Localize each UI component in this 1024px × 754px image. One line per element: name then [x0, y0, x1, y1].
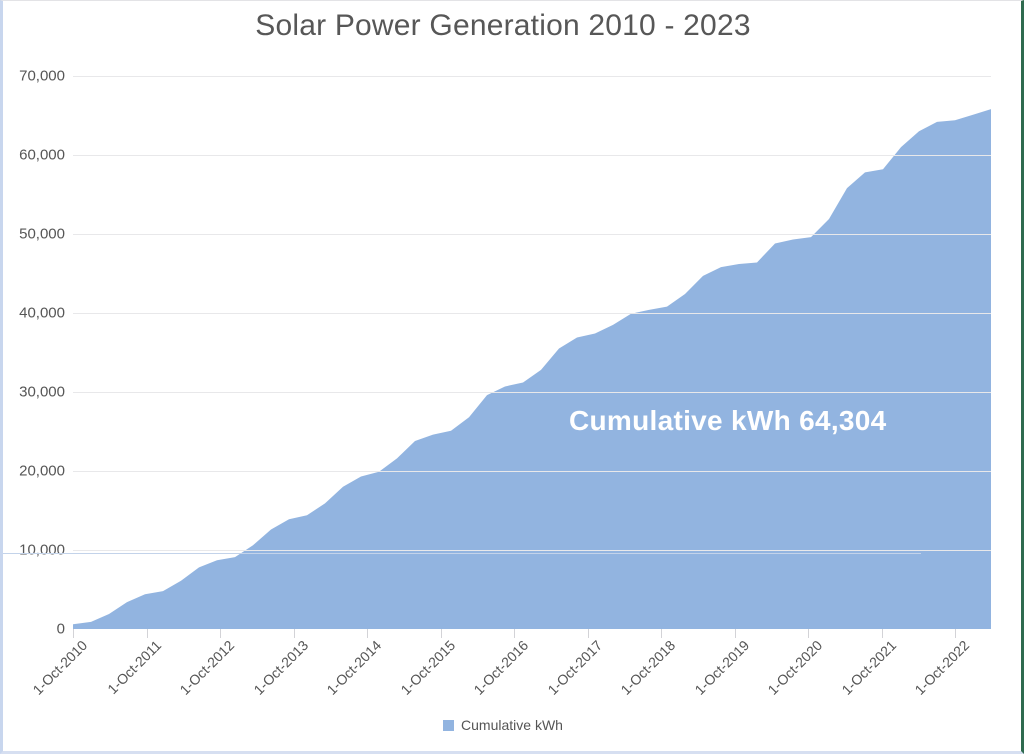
x-axis-tick-label: 1-Oct-2014 — [323, 637, 384, 698]
area-path — [73, 109, 991, 629]
y-axis-tick-label: 10,000 — [5, 542, 65, 559]
cumulative-total-annotation: Cumulative kWh 64,304 — [569, 405, 887, 437]
x-axis-tick-label: 1-Oct-2017 — [544, 637, 605, 698]
x-axis-tick-label: 1-Oct-2020 — [764, 637, 825, 698]
x-axis-tick-label: 1-Oct-2016 — [470, 637, 531, 698]
x-axis-tick-label: 1-Oct-2011 — [104, 637, 164, 697]
x-axis-tick-label: 1-Oct-2010 — [29, 637, 90, 698]
y-axis-tick-label: 40,000 — [5, 305, 65, 322]
gridline — [73, 234, 991, 235]
gridline — [73, 392, 991, 393]
gridline — [73, 76, 991, 77]
gridline — [73, 155, 991, 156]
gridline — [73, 471, 991, 472]
x-axis-tick-label: 1-Oct-2018 — [617, 637, 678, 698]
gridline — [73, 550, 991, 551]
x-axis-tick-label: 1-Oct-2013 — [250, 637, 311, 698]
x-axis-labels: 1-Oct-20101-Oct-20111-Oct-20121-Oct-2013… — [3, 637, 1024, 717]
y-axis-tick-label: 20,000 — [5, 463, 65, 480]
y-axis-tick-label: 30,000 — [5, 384, 65, 401]
y-axis: 010,00020,00030,00040,00050,00060,00070,… — [3, 76, 65, 629]
y-axis-tick-label: 60,000 — [5, 147, 65, 164]
x-axis-tick-label: 1-Oct-2022 — [911, 637, 972, 698]
legend-label: Cumulative kWh — [461, 717, 563, 733]
gridline — [73, 313, 991, 314]
area-series-cumulative-kwh — [73, 76, 991, 629]
legend-swatch-icon — [443, 720, 454, 731]
x-axis-tick-label: 1-Oct-2021 — [838, 637, 899, 698]
y-axis-tick-label: 50,000 — [5, 226, 65, 243]
x-axis-tick-label: 1-Oct-2019 — [691, 637, 752, 698]
chart-frame: Solar Power Generation 2010 - 2023 010,0… — [0, 0, 1024, 754]
y-axis-tick-label: 70,000 — [5, 68, 65, 85]
x-axis-tick-label: 1-Oct-2015 — [397, 637, 458, 698]
chart-title: Solar Power Generation 2010 - 2023 — [3, 9, 1003, 43]
plot-area — [73, 76, 991, 629]
axis-baseline — [3, 553, 921, 554]
y-axis-tick-label: 0 — [5, 621, 65, 638]
chart-legend: Cumulative kWh — [3, 717, 1003, 733]
x-axis-tick-label: 1-Oct-2012 — [176, 637, 237, 698]
